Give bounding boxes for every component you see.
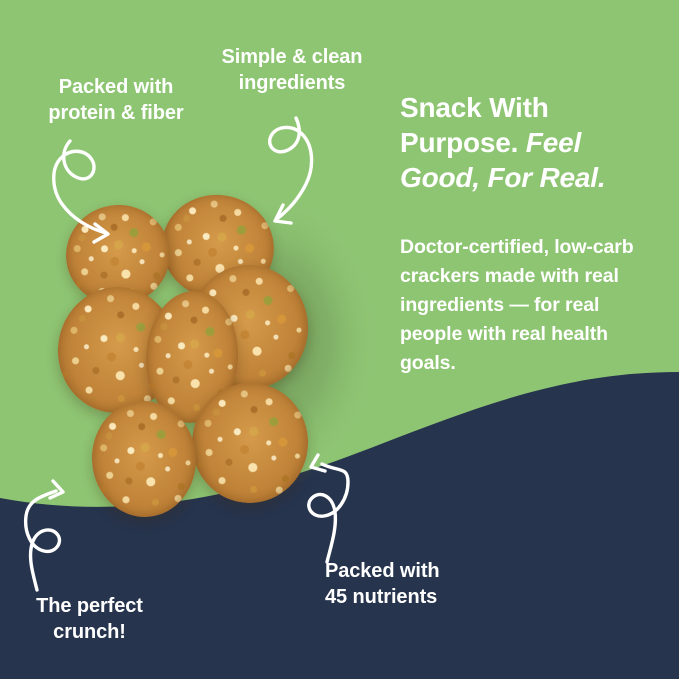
curly-arrow-down-left-icon [270,118,312,223]
curly-arrow-down-right-icon [54,141,108,242]
callout-packed-with-45-nutrients: Packed with 45 nutrients [325,558,515,610]
page-title: Snack With Purpose. Feel Good, For Real. [400,90,650,195]
headline-line-1: Snack With [400,92,549,123]
body-paragraph: Doctor-certified, low-carb crackers made… [400,233,645,378]
curly-arrow-up-left-icon [309,455,348,562]
product-hero-banner: Snack With Purpose. Feel Good, For Real.… [0,0,679,679]
headline-line-3-italic: Good, For Real. [400,162,605,193]
headline-line-2: Purpose. [400,127,526,158]
headline-line-2-italic: Feel [526,127,581,158]
curly-arrow-up-right-icon [26,481,63,590]
callout-simple-clean-ingredients: Simple & clean ingredients [206,44,378,96]
callout-packed-with-protein-fiber: Packed with protein & fiber [28,74,204,126]
callout-the-perfect-crunch: The perfect crunch! [12,593,167,645]
